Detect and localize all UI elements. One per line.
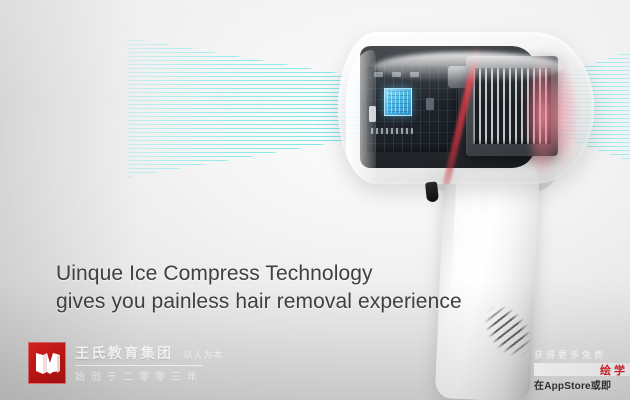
brand-divider (75, 365, 203, 366)
device-barrel (338, 32, 594, 184)
barrel-gloss-highlight (374, 52, 564, 82)
headline: Uinque Ice Compress Technology gives you… (56, 260, 462, 315)
nozzle-tab (425, 181, 439, 202)
watermark-line-3: 在AppStore或即 (534, 377, 630, 392)
barrel-front-rim (346, 50, 376, 184)
chip-surface (387, 91, 409, 113)
brand-logo-icon (28, 342, 66, 384)
headline-line-1: Uinque Ice Compress Technology (56, 260, 462, 288)
brand-slogan: 以人为本 (183, 348, 223, 361)
brand-block: 王氏教育集团 以人为本 始创于二零零三年 (28, 342, 223, 384)
app-watermark: 获得更多免费 绘学 在AppStore或即 (534, 348, 630, 392)
promo-image-canvas: Uinque Ice Compress Technology gives you… (0, 0, 630, 400)
brand-name: 王氏教育集团 (75, 343, 173, 363)
brand-text-block: 王氏教育集团 以人为本 始创于二零零三年 (75, 343, 223, 383)
brand-since: 始创于二零零三年 (75, 368, 223, 383)
watermark-bar: 绘学 (534, 363, 630, 376)
control-chip-icon (384, 88, 412, 116)
headline-line-2: gives you painless hair removal experien… (56, 288, 462, 316)
watermark-app-name: 绘学 (600, 362, 628, 378)
pcb-component-e (426, 98, 434, 110)
brand-title-row: 王氏教育集团 以人为本 (75, 343, 223, 363)
pcb-connector (371, 128, 413, 134)
hair-removal-device (330, 14, 620, 400)
watermark-line-1: 获得更多免费 (534, 348, 630, 361)
